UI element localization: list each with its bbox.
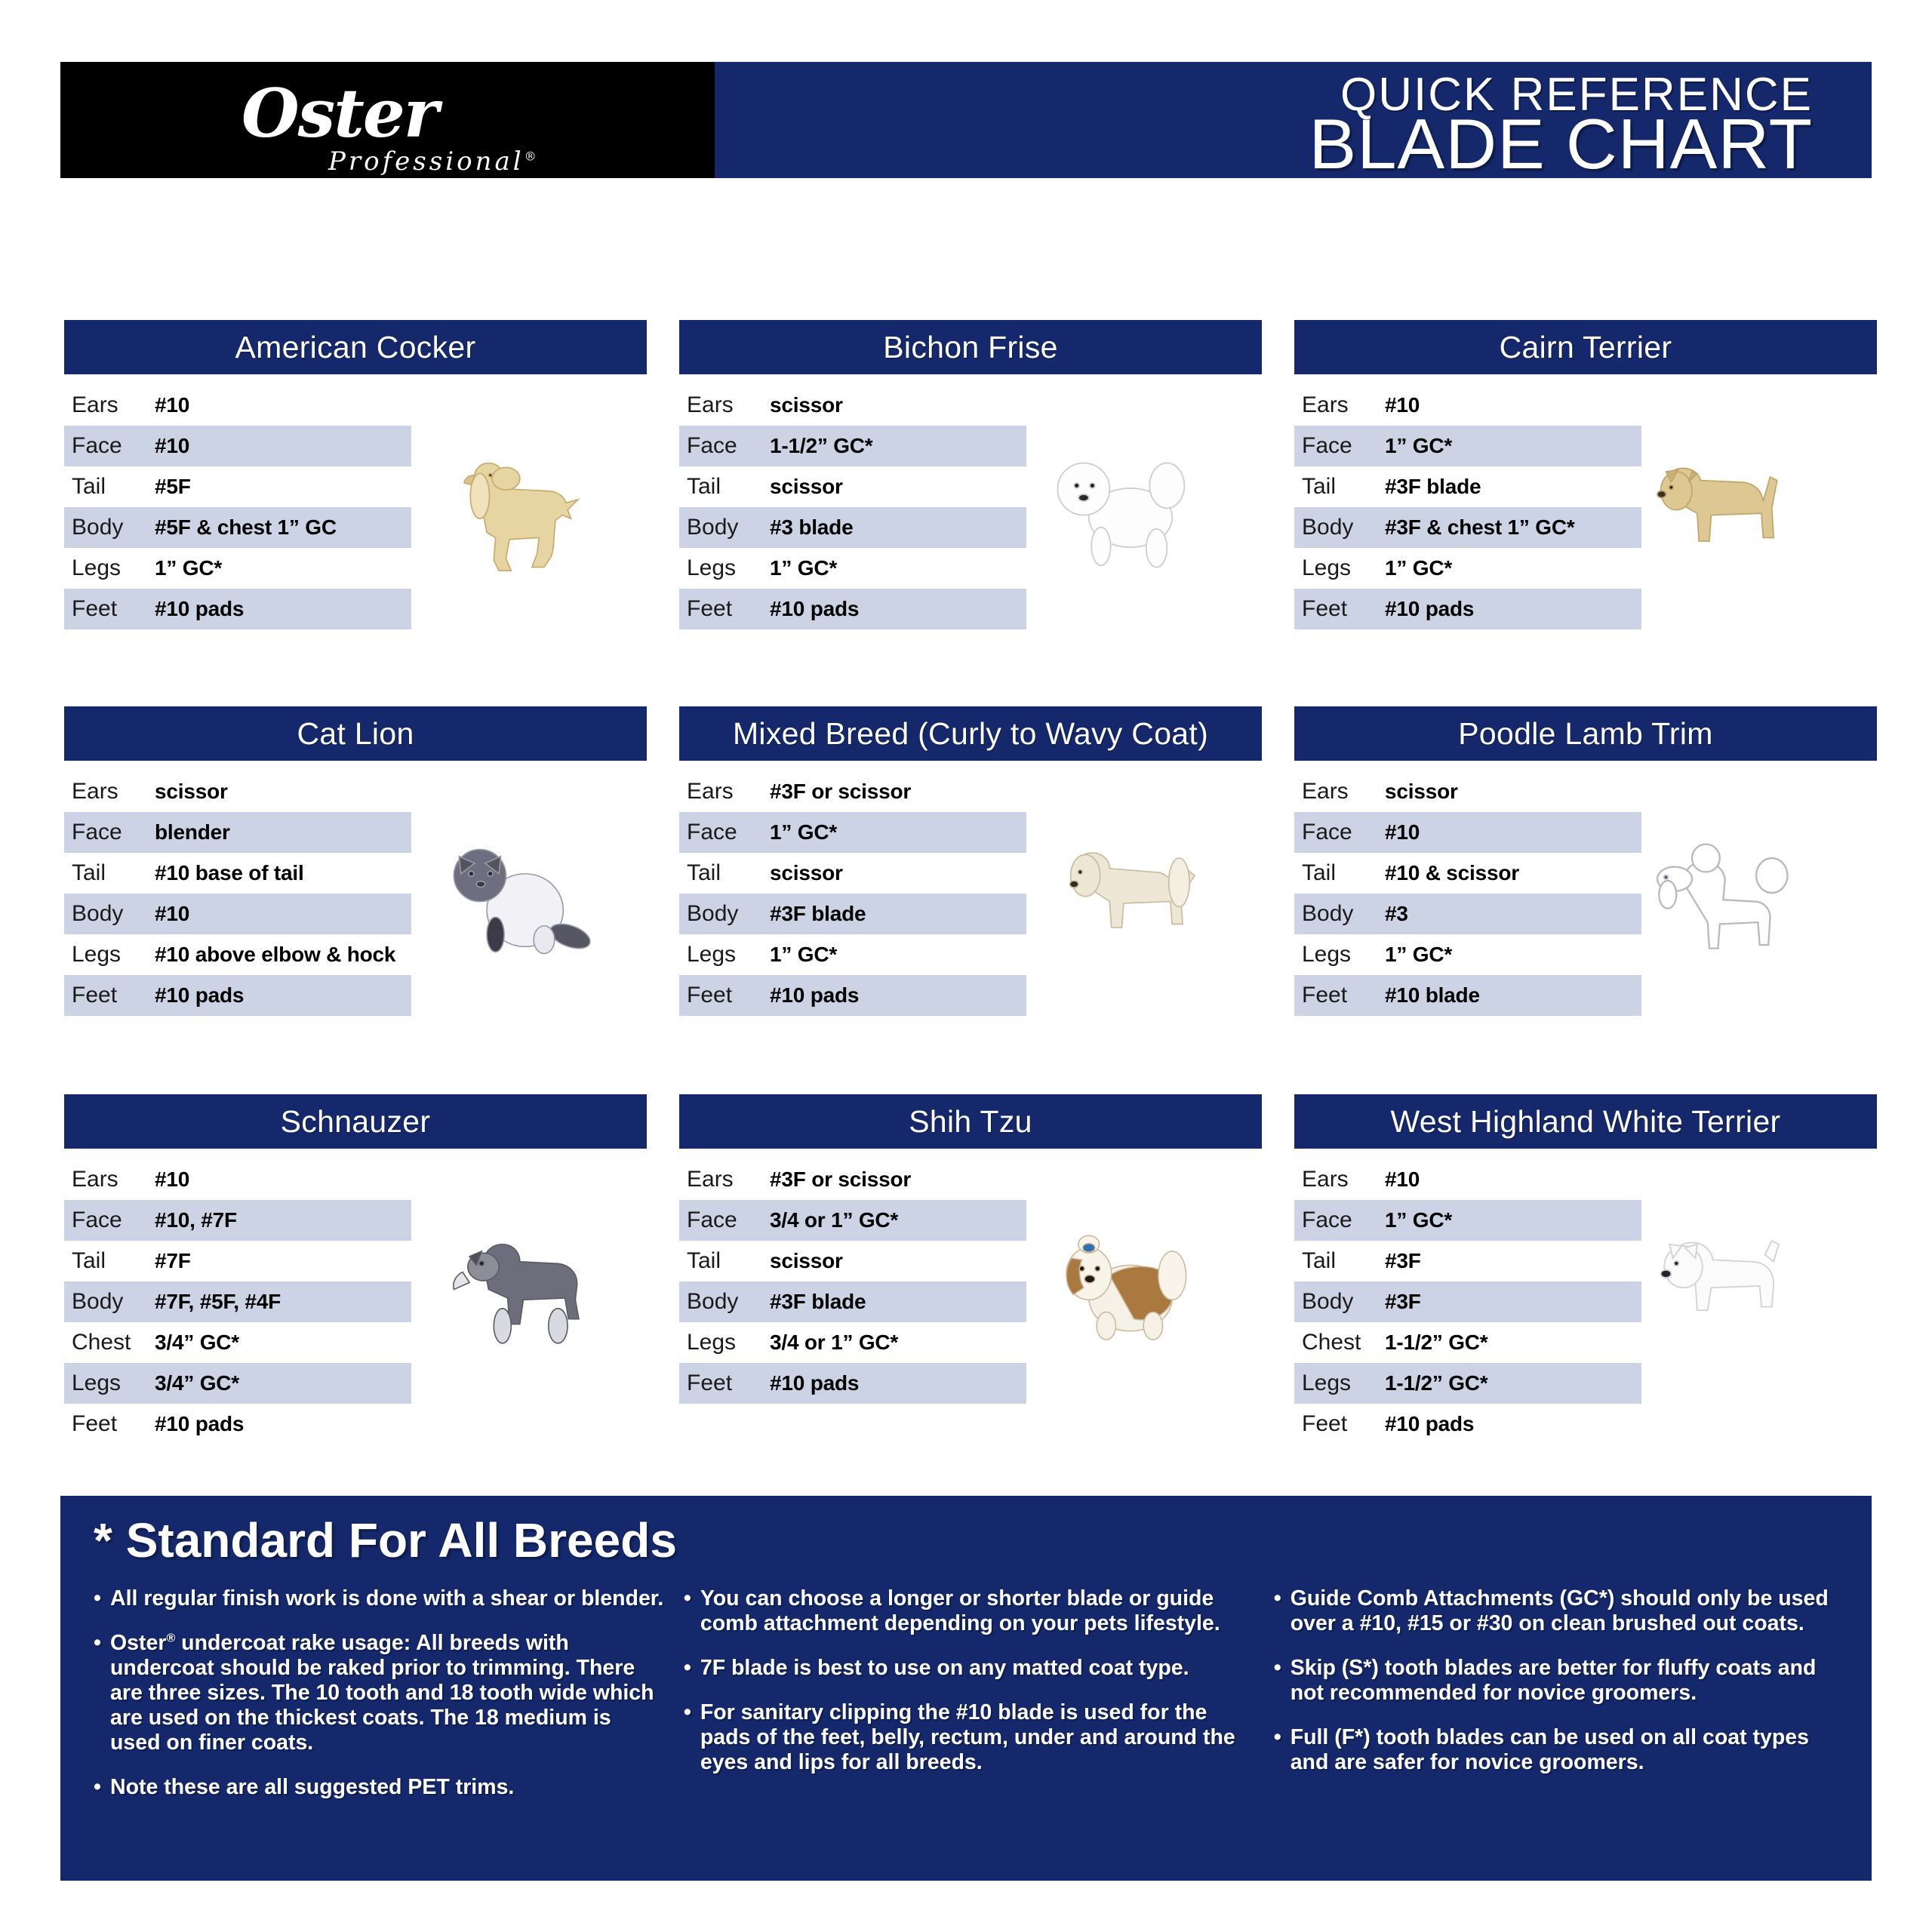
breed-card-title: American Cocker	[64, 320, 647, 374]
footer-bullet-item: •7F blade is best to use on any matted c…	[684, 1656, 1254, 1681]
breed-spec-row: Body#3F & chest 1” GC*	[1294, 507, 1641, 548]
bullet-dot-icon: •	[94, 1775, 110, 1800]
breed-spec-label: Face	[1294, 433, 1385, 459]
breed-spec-value: 3/4 or 1” GC*	[770, 1331, 898, 1355]
breed-spec-label: Tail	[1294, 474, 1385, 500]
breed-card-title: Schnauzer	[64, 1094, 647, 1149]
breed-spec-row: Feet#10 pads	[64, 589, 411, 629]
breed-spec-label: Face	[1294, 820, 1385, 845]
breed-spec-row: Faceblender	[64, 812, 411, 853]
footer-bullet-text: Guide Comb Attachments (GC*) should only…	[1291, 1586, 1829, 1636]
breed-card: American CockerEars#10Face#10Tail#5FBody…	[64, 320, 647, 629]
breed-spec-row: Earsscissor	[1294, 771, 1641, 812]
footer-title: * Standard For All Breeds	[94, 1512, 677, 1568]
breed-spec-label: Ears	[64, 779, 155, 804]
breed-spec-value: #10	[1385, 1168, 1420, 1192]
breed-spec-value: #3F blade	[770, 1290, 866, 1314]
breed-spec-row: Legs1” GC*	[1294, 548, 1641, 589]
breed-spec-value: 1” GC*	[1385, 943, 1452, 967]
breed-spec-label: Face	[64, 433, 155, 459]
breed-spec-row: Earsscissor	[64, 771, 411, 812]
breed-spec-value: #10	[1385, 393, 1420, 417]
breed-spec-label: Legs	[64, 1371, 155, 1396]
breed-illustration-american-cocker-spaniel	[411, 395, 608, 622]
breed-spec-value: #10 pads	[155, 1412, 244, 1436]
footer-column: •Guide Comb Attachments (GC*) should onl…	[1274, 1586, 1849, 1820]
breed-spec-label: Body	[679, 901, 770, 927]
breed-spec-row: Body#5F & chest 1” GC	[64, 507, 411, 548]
breed-spec-label: Legs	[1294, 555, 1385, 581]
breed-illustration-mixed-breed-doodle	[1015, 782, 1211, 1008]
breed-spec-label: Body	[64, 901, 155, 927]
breed-spec-row: Feet#10 pads	[679, 1363, 1026, 1404]
breed-card-title: Bichon Frise	[679, 320, 1262, 374]
footer-columns: •All regular finish work is done with a …	[94, 1586, 1849, 1820]
breed-spec-row: Face#10	[1294, 812, 1641, 853]
footer-bullet-text: You can choose a longer or shorter blade…	[700, 1586, 1254, 1636]
footer-bullet-item: •All regular finish work is done with a …	[94, 1586, 664, 1611]
breed-spec-label: Body	[64, 1289, 155, 1315]
footer-column: •You can choose a longer or shorter blad…	[684, 1586, 1274, 1820]
breed-card-title: Cat Lion	[64, 706, 647, 761]
breed-spec-row: Feet#10 pads	[64, 975, 411, 1016]
breed-spec-label: Ears	[679, 779, 770, 804]
breed-spec-row: Legs#10 above elbow & hock	[64, 934, 411, 975]
breed-spec-value: #10 pads	[155, 597, 244, 621]
breed-spec-label: Ears	[679, 1167, 770, 1192]
breed-spec-row: Feet#10 pads	[64, 1404, 411, 1444]
breed-spec-label: Face	[64, 820, 155, 845]
breed-spec-row: Tail#3F	[1294, 1241, 1641, 1281]
breed-card-title: Shih Tzu	[679, 1094, 1262, 1149]
breed-spec-label: Feet	[64, 1411, 155, 1437]
footer-bullet-text: For sanitary clipping the #10 blade is u…	[700, 1700, 1254, 1775]
breed-spec-row: Chest3/4” GC*	[64, 1322, 411, 1363]
breed-spec-row: Ears#3F or scissor	[679, 771, 1026, 812]
breed-spec-value: scissor	[770, 1249, 843, 1273]
breed-illustration-west-highland-white-terrier	[1611, 1170, 1807, 1396]
breed-spec-row: Body#3 blade	[679, 507, 1026, 548]
standard-for-all-breeds-panel: * Standard For All Breeds •All regular f…	[60, 1496, 1872, 1881]
breed-spec-value: #3F & chest 1” GC*	[1385, 515, 1575, 540]
breed-spec-value: 1” GC*	[1385, 556, 1452, 580]
breed-card: Cairn TerrierEars#10Face1” GC*Tail#3F bl…	[1294, 320, 1877, 629]
breed-spec-label: Tail	[679, 474, 770, 500]
breed-spec-value: scissor	[155, 780, 228, 804]
breed-spec-label: Legs	[679, 1330, 770, 1355]
footer-bullet-item: •You can choose a longer or shorter blad…	[684, 1586, 1254, 1636]
breed-spec-row: Tail#3F blade	[1294, 466, 1641, 507]
breed-spec-row: Earsscissor	[679, 385, 1026, 426]
breed-spec-value: #7F, #5F, #4F	[155, 1290, 281, 1314]
breed-card: Cat LionEarsscissorFaceblenderTail#10 ba…	[64, 706, 647, 1016]
breed-spec-value: 1” GC*	[770, 556, 837, 580]
breed-spec-value: 1-1/2” GC*	[1385, 1371, 1488, 1395]
footer-bullet-text: Oster® undercoat rake usage: All breeds …	[110, 1631, 664, 1755]
breed-spec-label: Body	[1294, 1289, 1385, 1315]
breed-spec-row: Legs1-1/2” GC*	[1294, 1363, 1641, 1404]
breed-spec-label: Ears	[1294, 1167, 1385, 1192]
breed-spec-row: Face1” GC*	[1294, 426, 1641, 466]
breed-spec-row: Tailscissor	[679, 853, 1026, 894]
breed-spec-label: Legs	[679, 555, 770, 581]
footer-bullet-item: •Note these are all suggested PET trims.	[94, 1775, 664, 1800]
breed-spec-value: #3F blade	[1385, 475, 1481, 499]
breed-spec-label: Face	[679, 820, 770, 845]
breed-spec-row: Body#10	[64, 894, 411, 934]
breed-spec-row: Legs3/4 or 1” GC*	[679, 1322, 1026, 1363]
breed-spec-row: Ears#10	[64, 1159, 411, 1200]
breed-spec-label: Tail	[679, 860, 770, 886]
breed-spec-row: Legs1” GC*	[679, 934, 1026, 975]
breed-illustration-schnauzer	[411, 1170, 608, 1396]
breed-spec-label: Tail	[1294, 1248, 1385, 1274]
breed-spec-value: 3/4” GC*	[155, 1331, 239, 1355]
breed-spec-value: scissor	[770, 393, 843, 417]
breed-illustration-cat-lion	[411, 782, 608, 1008]
breed-spec-value: #10 pads	[155, 983, 244, 1008]
breed-spec-value: #5F	[155, 475, 191, 499]
breed-spec-row: Feet#10 blade	[1294, 975, 1641, 1016]
breed-spec-label: Feet	[1294, 596, 1385, 622]
breed-spec-value: #10 pads	[770, 1371, 859, 1395]
breed-spec-value: #3F or scissor	[770, 1168, 911, 1192]
breed-spec-value: 3/4 or 1” GC*	[770, 1208, 898, 1232]
breed-spec-value: 1” GC*	[155, 556, 222, 580]
breed-spec-row: Body#7F, #5F, #4F	[64, 1281, 411, 1322]
breed-card: Bichon FriseEarsscissorFace1-1/2” GC*Tai…	[679, 320, 1262, 629]
breed-spec-row: Tail#5F	[64, 466, 411, 507]
bullet-dot-icon: •	[684, 1656, 700, 1681]
bullet-dot-icon: •	[1274, 1656, 1291, 1706]
breed-spec-label: Ears	[679, 392, 770, 418]
breed-spec-label: Chest	[1294, 1330, 1385, 1355]
breed-spec-value: #10	[155, 434, 189, 458]
breed-spec-row: Ears#10	[64, 385, 411, 426]
breed-spec-row: Face#10	[64, 426, 411, 466]
breed-spec-label: Body	[679, 1289, 770, 1315]
breed-spec-value: 1” GC*	[770, 943, 837, 967]
breed-spec-label: Body	[1294, 515, 1385, 540]
breed-spec-label: Tail	[64, 1248, 155, 1274]
footer-bullet-item: •For sanitary clipping the #10 blade is …	[684, 1700, 1254, 1775]
breed-spec-row: Body#3F	[1294, 1281, 1641, 1322]
footer-bullet-item: •Guide Comb Attachments (GC*) should onl…	[1274, 1586, 1829, 1636]
breed-spec-label: Legs	[64, 555, 155, 581]
breed-spec-row: Face1” GC*	[679, 812, 1026, 853]
breed-spec-row: Feet#10 pads	[679, 589, 1026, 629]
breed-spec-row: Tail#10 & scissor	[1294, 853, 1641, 894]
footer-bullet-text: Note these are all suggested PET trims.	[110, 1775, 664, 1800]
breed-spec-value: 1-1/2” GC*	[1385, 1331, 1488, 1355]
breed-card-title: West Highland White Terrier	[1294, 1094, 1877, 1149]
breed-spec-row: Ears#3F or scissor	[679, 1159, 1026, 1200]
breed-spec-label: Face	[64, 1207, 155, 1233]
breed-spec-value: blender	[155, 820, 230, 844]
breed-spec-value: #3F	[1385, 1290, 1421, 1314]
breed-spec-label: Legs	[1294, 1371, 1385, 1396]
breed-spec-label: Face	[1294, 1207, 1385, 1233]
breed-spec-value: #3	[1385, 902, 1408, 926]
breed-spec-value: #10 pads	[770, 597, 859, 621]
footer-bullet-item: •Full (F*) tooth blades can be used on a…	[1274, 1725, 1829, 1775]
breed-spec-label: Feet	[679, 596, 770, 622]
breed-spec-label: Ears	[1294, 392, 1385, 418]
breed-spec-label: Face	[679, 433, 770, 459]
footer-bullet-text: Skip (S*) tooth blades are better for fl…	[1291, 1656, 1829, 1706]
bullet-dot-icon: •	[1274, 1725, 1291, 1775]
breed-spec-row: Ears#10	[1294, 385, 1641, 426]
breed-spec-value: #3 blade	[770, 515, 853, 540]
breed-spec-value: scissor	[770, 475, 843, 499]
breed-spec-value: #10 pads	[1385, 1412, 1474, 1436]
footer-bullet-text: Full (F*) tooth blades can be used on al…	[1291, 1725, 1829, 1775]
breed-spec-label: Body	[1294, 901, 1385, 927]
breed-spec-label: Tail	[64, 860, 155, 886]
breed-spec-value: 1” GC*	[770, 820, 837, 844]
blade-chart-page: Oster Professional® QUICK REFERENCE BLAD…	[0, 0, 1932, 1932]
breed-spec-label: Body	[679, 515, 770, 540]
breed-spec-label: Legs	[679, 942, 770, 968]
breed-card-title: Mixed Breed (Curly to Wavy Coat)	[679, 706, 1262, 761]
breed-card-title: Cairn Terrier	[1294, 320, 1877, 374]
breed-card: Poodle Lamb TrimEarsscissorFace#10Tail#1…	[1294, 706, 1877, 1016]
breed-spec-label: Legs	[64, 942, 155, 968]
breed-spec-row: Tail#7F	[64, 1241, 411, 1281]
bullet-dot-icon: •	[94, 1631, 110, 1755]
breed-spec-row: Tailscissor	[679, 466, 1026, 507]
breed-illustration-cairn-terrier	[1611, 395, 1807, 622]
breed-card-title: Poodle Lamb Trim	[1294, 706, 1877, 761]
breed-spec-value: #10	[155, 902, 189, 926]
breed-spec-value: #10 & scissor	[1385, 861, 1519, 885]
breed-spec-value: #10 blade	[1385, 983, 1480, 1008]
breed-spec-value: scissor	[1385, 780, 1458, 804]
breed-spec-value: #10 above elbow & hock	[155, 943, 395, 967]
breed-spec-value: 3/4” GC*	[155, 1371, 239, 1395]
breed-spec-value: #3F or scissor	[770, 780, 911, 804]
footer-bullet-item: •Oster® undercoat rake usage: All breeds…	[94, 1631, 664, 1755]
breed-card: West Highland White TerrierEars#10Face1”…	[1294, 1094, 1877, 1444]
breed-spec-row: Legs3/4” GC*	[64, 1363, 411, 1404]
breed-spec-label: Tail	[64, 474, 155, 500]
breed-spec-row: Legs1” GC*	[1294, 934, 1641, 975]
breed-spec-label: Ears	[1294, 779, 1385, 804]
breed-illustration-bichon-frise	[1015, 395, 1211, 622]
breed-spec-label: Face	[679, 1207, 770, 1233]
breed-spec-row: Face3/4 or 1” GC*	[679, 1200, 1026, 1241]
breed-spec-value: #7F	[155, 1249, 191, 1273]
breed-spec-value: #10	[1385, 820, 1420, 844]
footer-bullet-text: All regular finish work is done with a s…	[110, 1586, 664, 1611]
breed-illustration-shih-tzu	[1015, 1170, 1211, 1396]
breed-spec-row: Tail#10 base of tail	[64, 853, 411, 894]
breed-spec-label: Feet	[1294, 1411, 1385, 1437]
breed-spec-row: Chest1-1/2” GC*	[1294, 1322, 1641, 1363]
breed-spec-label: Tail	[679, 1248, 770, 1274]
breed-spec-label: Feet	[679, 1371, 770, 1396]
registered-mark-icon: ®	[166, 1632, 175, 1645]
breed-spec-label: Feet	[64, 596, 155, 622]
breed-spec-label: Feet	[1294, 983, 1385, 1008]
bullet-dot-icon: •	[94, 1586, 110, 1611]
breed-spec-value: #5F & chest 1” GC	[155, 515, 337, 540]
breed-spec-value: #10	[155, 393, 189, 417]
footer-bullet-text: 7F blade is best to use on any matted co…	[700, 1656, 1254, 1681]
bullet-dot-icon: •	[684, 1586, 700, 1636]
breed-spec-label: Tail	[1294, 860, 1385, 886]
bullet-dot-icon: •	[1274, 1586, 1291, 1636]
breed-spec-value: #10 base of tail	[155, 861, 304, 885]
breed-spec-value: #3F blade	[770, 902, 866, 926]
footer-bullet-item: •Skip (S*) tooth blades are better for f…	[1274, 1656, 1829, 1706]
breed-spec-row: Face1-1/2” GC*	[679, 426, 1026, 466]
bullet-dot-icon: •	[684, 1700, 700, 1775]
breed-spec-row: Legs1” GC*	[679, 548, 1026, 589]
breed-spec-label: Body	[64, 515, 155, 540]
breed-spec-row: Body#3F blade	[679, 1281, 1026, 1322]
breed-card: Mixed Breed (Curly to Wavy Coat)Ears#3F …	[679, 706, 1262, 1016]
breed-spec-row: Feet#10 pads	[1294, 589, 1641, 629]
breed-spec-row: Body#3F blade	[679, 894, 1026, 934]
breed-illustration-poodle	[1611, 782, 1807, 1008]
breed-spec-value: 1-1/2” GC*	[770, 434, 873, 458]
breed-spec-label: Feet	[64, 983, 155, 1008]
breed-spec-value: #10, #7F	[155, 1208, 237, 1232]
breed-spec-row: Feet#10 pads	[679, 975, 1026, 1016]
breed-spec-row: Tailscissor	[679, 1241, 1026, 1281]
breed-spec-row: Body#3	[1294, 894, 1641, 934]
breed-spec-value: 1” GC*	[1385, 1208, 1452, 1232]
breed-spec-value: #10 pads	[1385, 597, 1474, 621]
breed-spec-value: #3F	[1385, 1249, 1421, 1273]
breed-spec-row: Ears#10	[1294, 1159, 1641, 1200]
breed-spec-value: #10	[155, 1168, 189, 1192]
breed-spec-label: Ears	[64, 392, 155, 418]
breed-spec-value: #10 pads	[770, 983, 859, 1008]
breed-spec-row: Feet#10 pads	[1294, 1404, 1641, 1444]
breed-card: Shih TzuEars#3F or scissorFace3/4 or 1” …	[679, 1094, 1262, 1404]
breed-spec-label: Chest	[64, 1330, 155, 1355]
breed-spec-value: scissor	[770, 861, 843, 885]
breed-card: SchnauzerEars#10Face#10, #7FTail#7FBody#…	[64, 1094, 647, 1444]
breed-spec-label: Legs	[1294, 942, 1385, 968]
breed-spec-row: Face1” GC*	[1294, 1200, 1641, 1241]
breed-spec-row: Legs1” GC*	[64, 548, 411, 589]
breed-spec-label: Feet	[679, 983, 770, 1008]
footer-column: •All regular finish work is done with a …	[94, 1586, 684, 1820]
breed-spec-row: Face#10, #7F	[64, 1200, 411, 1241]
breed-spec-label: Ears	[64, 1167, 155, 1192]
breed-spec-value: 1” GC*	[1385, 434, 1452, 458]
